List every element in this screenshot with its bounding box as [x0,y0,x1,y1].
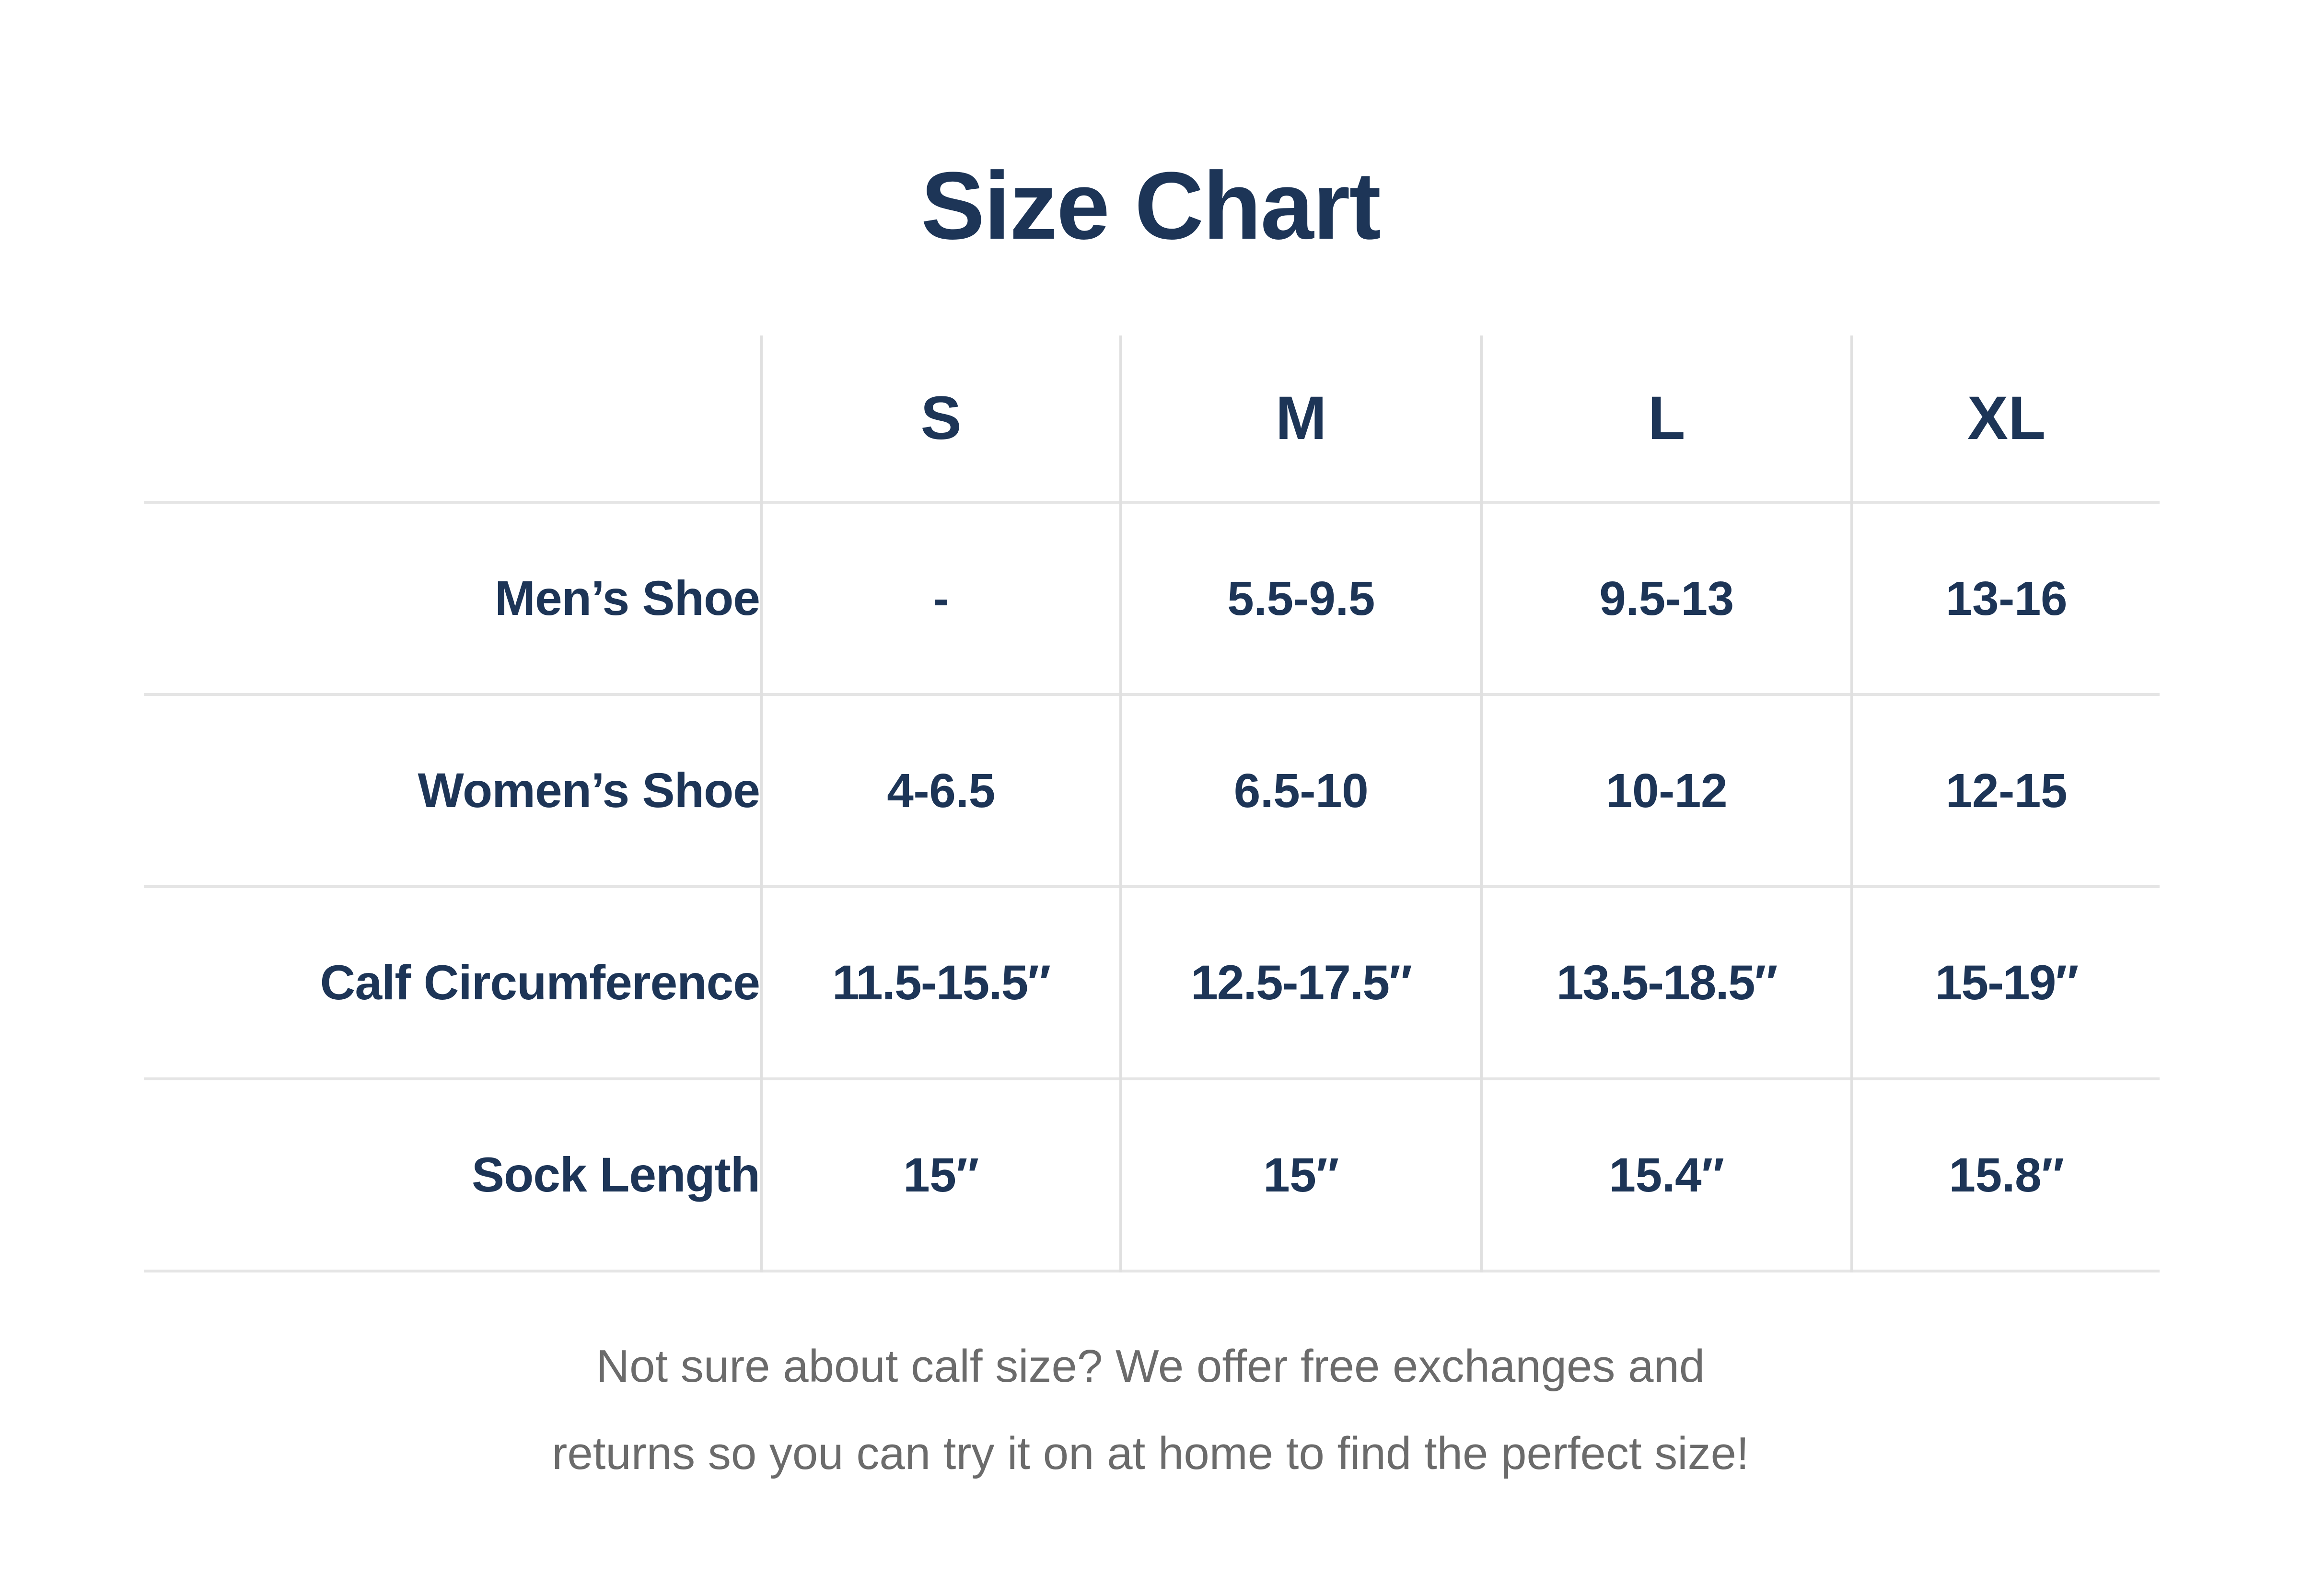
cell-mens-shoe-l: 9.5-13 [1481,502,1852,694]
cell-sock-length-s: 15″ [761,1079,1121,1271]
cell-calf-circumference-m: 12.5-17.5″ [1121,887,1481,1079]
cell-mens-shoe-m: 5.5-9.5 [1121,502,1481,694]
table-row-sock-length: Sock Length 15″ 15″ 15.4″ 15.8″ [144,1079,2160,1271]
footnote: Not sure about calf size? We offer free … [0,1323,2301,1498]
cell-womens-shoe-s: 4-6.5 [761,694,1121,887]
cell-womens-shoe-m: 6.5-10 [1121,694,1481,887]
row-label-womens-shoe: Women’s Shoe [144,694,761,887]
column-header-m: M [1121,335,1481,502]
page-title: Size Chart [0,158,2301,254]
cell-sock-length-xl: 15.8″ [1852,1079,2160,1271]
table-header-row: S M L XL [144,335,2160,502]
cell-womens-shoe-l: 10-12 [1481,694,1852,887]
table-row-mens-shoe: Men’s Shoe - 5.5-9.5 9.5-13 13-16 [144,502,2160,694]
cell-calf-circumference-xl: 15-19″ [1852,887,2160,1079]
row-label-mens-shoe: Men’s Shoe [144,502,761,694]
column-header-s: S [761,335,1121,502]
size-chart-page: Size Chart S M L XL Men’s Shoe - 5.5-9.5 [0,0,2301,1596]
cell-sock-length-l: 15.4″ [1481,1079,1852,1271]
row-label-calf-circumference: Calf Circumference [144,887,761,1079]
size-chart-table: S M L XL Men’s Shoe - 5.5-9.5 9.5-13 13-… [144,335,2160,1272]
column-header-row-label [144,335,761,502]
cell-womens-shoe-xl: 12-15 [1852,694,2160,887]
cell-calf-circumference-s: 11.5-15.5″ [761,887,1121,1079]
column-header-xl: XL [1852,335,2160,502]
footnote-line-1: Not sure about calf size? We offer free … [0,1323,2301,1410]
table-row-calf-circumference: Calf Circumference 11.5-15.5″ 12.5-17.5″… [144,887,2160,1079]
footnote-line-2: returns so you can try it on at home to … [0,1410,2301,1497]
table-bottom-rule [144,1271,2160,1272]
cell-mens-shoe-xl: 13-16 [1852,502,2160,694]
cell-sock-length-m: 15″ [1121,1079,1481,1271]
column-header-l: L [1481,335,1852,502]
table-row-womens-shoe: Women’s Shoe 4-6.5 6.5-10 10-12 12-15 [144,694,2160,887]
row-label-sock-length: Sock Length [144,1079,761,1271]
cell-calf-circumference-l: 13.5-18.5″ [1481,887,1852,1079]
cell-mens-shoe-s: - [761,502,1121,694]
